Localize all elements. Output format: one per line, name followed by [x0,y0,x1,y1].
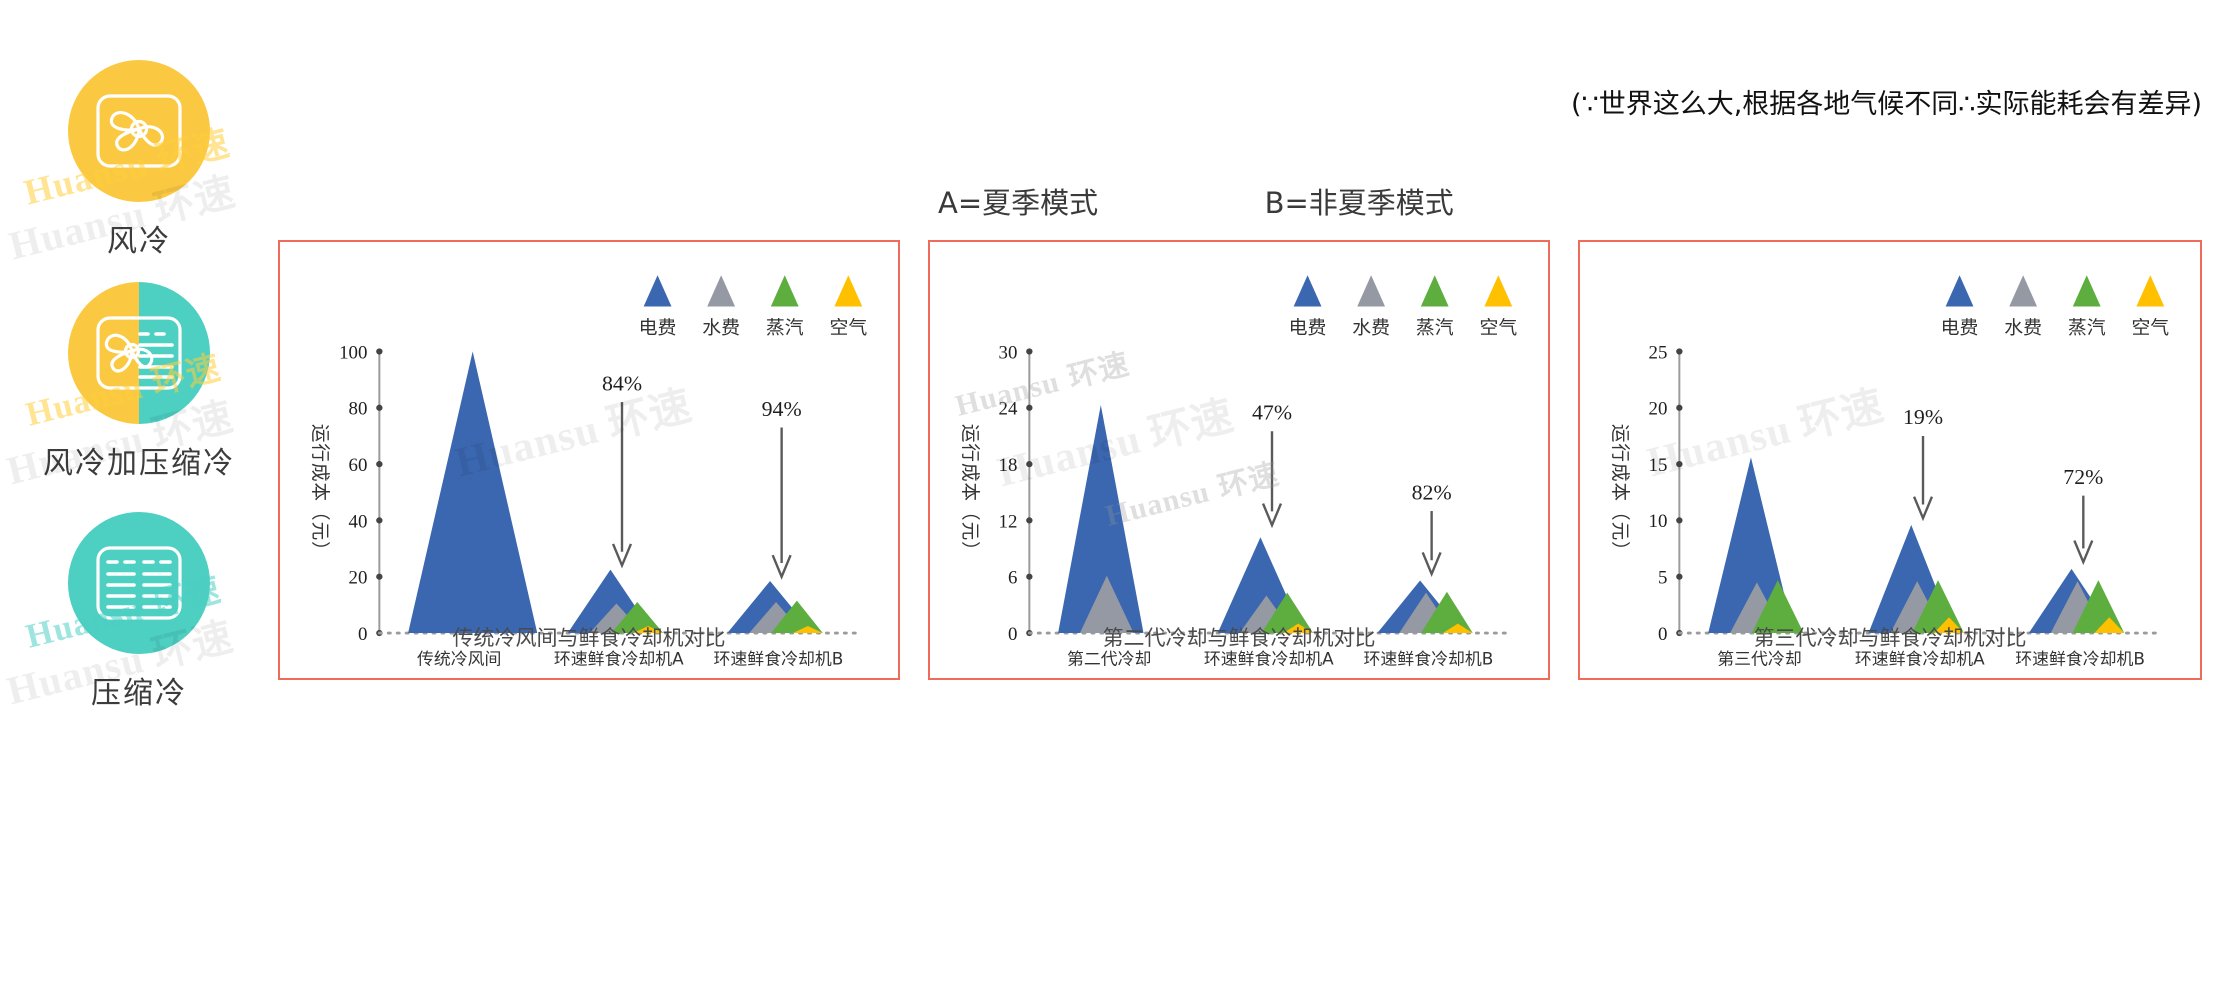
legend-label: 蒸汽 [766,318,804,339]
y-tick-label: 6 [1008,568,1017,589]
y-axis-title: 运行成本（元） [1609,424,1630,561]
y-tick-label: 40 [349,511,368,532]
y-tick-label: 100 [339,342,367,363]
y-axis-title: 运行成本（元） [309,424,330,561]
chart-3-svg: 电费水费蒸汽空气0510152025运行成本（元）第三代冷却环速鲜食冷却机A环速… [1580,242,2200,678]
chart-3-title: 第三代冷却与鲜食冷却机对比 [1580,622,2200,652]
icon-label: 风冷加压缩冷 [0,438,278,482]
mode-note: A=夏季模式 B=非夏季模式 [938,180,1454,222]
legend-label: 电费 [1941,318,1979,339]
legend-label: 电费 [639,318,677,339]
bar-电费 [408,351,537,633]
y-tick-dot [376,348,382,354]
legend-label: 水费 [2004,318,2042,339]
y-tick-dot [376,461,382,467]
y-tick-label: 5 [1658,568,1667,589]
y-tick-dot [376,574,382,580]
chart-2-svg: 电费水费蒸汽空气0612182430运行成本（元）第二代冷却环速鲜食冷却机A环速… [930,242,1548,678]
icon-label: 压缩冷 [0,668,278,712]
legend-swatch-水费 [707,275,735,306]
reduction-percent-label: 94% [762,397,802,421]
y-tick-label: 20 [349,568,368,589]
y-tick-label: 60 [349,455,368,476]
chart-panel-2: 电费水费蒸汽空气0612182430运行成本（元）第二代冷却环速鲜食冷却机A环速… [928,240,1550,680]
y-tick-dot [1026,574,1032,580]
fan-coil-glyph [68,282,210,424]
coil-icon [68,512,210,654]
chart-2-title: 第二代冷却与鲜食冷却机对比 [930,622,1548,652]
chart-panel-3: 电费水费蒸汽空气0510152025运行成本（元）第三代冷却环速鲜食冷却机A环速… [1578,240,2202,680]
legend-label: 水费 [702,318,740,339]
legend-swatch-电费 [1946,275,1974,306]
reduction-percent-label: 47% [1252,401,1292,425]
fan-icon [68,60,210,202]
reduction-percent-label: 82% [1412,480,1452,504]
legend-swatch-空气 [2136,275,2164,306]
coil-glyph [68,512,210,654]
legend-label: 电费 [1289,318,1327,339]
fan-coil-icon [68,282,210,424]
legend-swatch-电费 [644,275,672,306]
reduction-percent-label: 84% [602,372,642,396]
legend-swatch-蒸汽 [1421,275,1449,306]
y-tick-label: 80 [349,399,368,420]
legend-label: 蒸汽 [1416,318,1454,339]
y-tick-dot [1676,405,1682,411]
legend-swatch-蒸汽 [771,275,799,306]
y-tick-dot [1676,574,1682,580]
icon-block-air-plus-compression: 风冷加压缩冷 [0,282,278,482]
y-tick-dot [1026,461,1032,467]
legend-swatch-空气 [834,275,862,306]
y-axis-title: 运行成本（元） [959,424,980,561]
chart-panel-1: 电费水费蒸汽空气020406080100运行成本（元）传统冷风间环速鲜食冷却机A… [278,240,900,680]
fan-glyph [68,60,210,202]
y-tick-dot [1026,405,1032,411]
y-tick-dot [1026,348,1032,354]
y-tick-label: 30 [999,342,1018,363]
icon-label: 风冷 [0,216,278,260]
legend-swatch-蒸汽 [2073,275,2101,306]
icon-block-air-cooling: 风冷 [0,60,278,260]
y-tick-label: 24 [999,399,1019,420]
legend-swatch-电费 [1294,275,1322,306]
icon-rail: 风冷 [0,60,278,980]
legend-label: 空气 [1479,318,1517,339]
y-tick-dot [1676,348,1682,354]
y-tick-dot [376,517,382,523]
y-tick-dot [376,405,382,411]
climate-note: (∵世界这么大,根据各地气候不同∴实际能耗会有差异) [1571,82,2202,121]
legend-swatch-水费 [1357,275,1385,306]
legend-swatch-水费 [2009,275,2037,306]
mode-b-label: B=非夏季模式 [1265,186,1454,220]
y-tick-label: 10 [1649,511,1668,532]
y-tick-label: 12 [999,511,1018,532]
y-tick-dot [1676,517,1682,523]
y-tick-label: 20 [1649,399,1668,420]
chart-1-svg: 电费水费蒸汽空气020406080100运行成本（元）传统冷风间环速鲜食冷却机A… [280,242,898,678]
legend-label: 空气 [829,318,867,339]
y-tick-label: 15 [1649,455,1668,476]
chart-1-title: 传统冷风间与鲜食冷却机对比 [280,622,898,652]
legend-label: 水费 [1352,318,1390,339]
mode-a-label: A=夏季模式 [938,186,1098,220]
icon-block-compression-cooling: 压缩冷 [0,512,278,712]
reduction-percent-label: 19% [1903,405,1943,429]
legend-label: 空气 [2131,318,2169,339]
reduction-percent-label: 72% [2063,465,2103,489]
legend-label: 蒸汽 [2068,318,2106,339]
y-tick-dot [1676,461,1682,467]
y-tick-dot [1026,517,1032,523]
y-tick-label: 18 [999,455,1018,476]
y-tick-label: 25 [1649,342,1668,363]
legend-swatch-空气 [1484,275,1512,306]
